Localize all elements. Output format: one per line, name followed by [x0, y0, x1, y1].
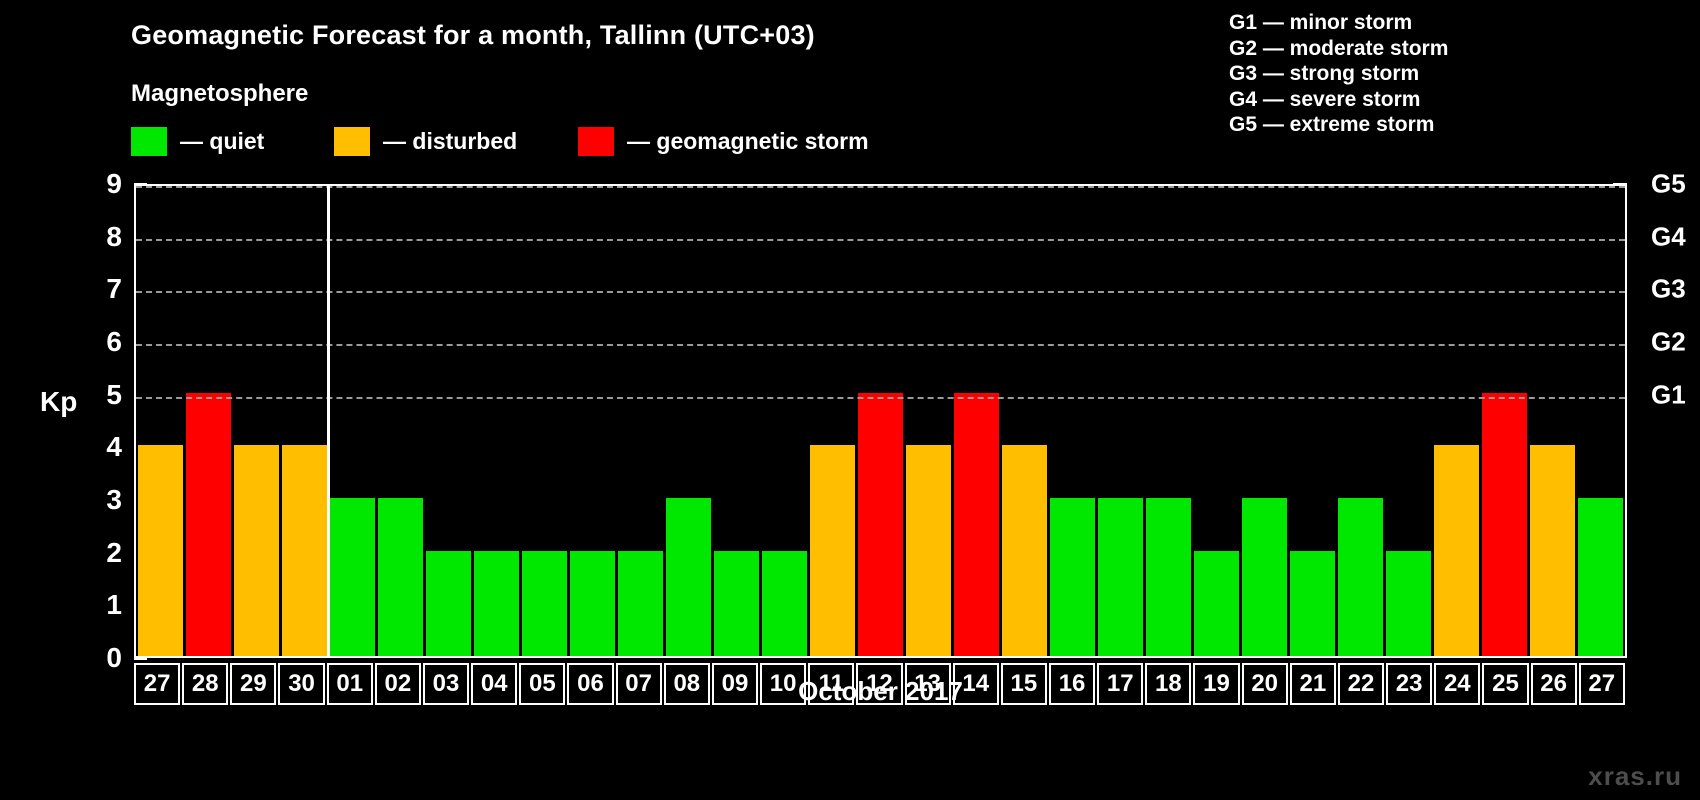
month-divider [327, 186, 330, 656]
bar-13-kp-4 [906, 445, 951, 656]
legend-item-1: — disturbed [334, 126, 517, 156]
bar-04-kp-2 [474, 551, 519, 656]
bar-slot [1481, 186, 1529, 656]
gridline-kp-8 [136, 239, 1625, 241]
bar-slot [136, 186, 184, 656]
legend-label: — disturbed [383, 128, 517, 155]
bar-09-kp-2 [714, 551, 759, 656]
y-axis-title: Kp [40, 386, 77, 418]
bar-slot [856, 186, 904, 656]
bar-01-kp-3 [330, 498, 375, 656]
bar-10-kp-2 [762, 551, 807, 656]
legend-swatch-icon [334, 127, 370, 156]
bar-slot [328, 186, 376, 656]
bar-slot [1145, 186, 1193, 656]
storm-scale-row-2: G2 — moderate storm [1229, 36, 1448, 62]
bar-slot [760, 186, 808, 656]
bar-28-kp-5 [186, 393, 231, 656]
bar-slot [1097, 186, 1145, 656]
plot-area [134, 184, 1627, 658]
geomagnetic-forecast-chart: Geomagnetic Forecast for a month, Tallin… [0, 0, 1700, 800]
bar-slot [616, 186, 664, 656]
bar-05-kp-2 [522, 551, 567, 656]
bar-11-kp-4 [810, 445, 855, 656]
storm-scale-row-1: G1 — minor storm [1229, 10, 1448, 36]
legend-label: — quiet [180, 128, 264, 155]
bar-slot [1529, 186, 1577, 656]
bar-06-kp-2 [570, 551, 615, 656]
legend-swatch-icon [578, 127, 614, 156]
bar-20-kp-3 [1242, 498, 1287, 656]
bar-slot [472, 186, 520, 656]
bar-23-kp-2 [1386, 551, 1431, 656]
storm-scale-row-5: G5 — extreme storm [1229, 112, 1448, 138]
bar-slot [1001, 186, 1049, 656]
bar-slot [280, 186, 328, 656]
bar-slot [1577, 186, 1625, 656]
right-tick-label-G5: G5 [1651, 169, 1686, 200]
gridline-kp-9 [136, 186, 1625, 188]
bar-slot [1193, 186, 1241, 656]
bar-07-kp-2 [618, 551, 663, 656]
right-tick-label-G4: G4 [1651, 221, 1686, 252]
bar-02-kp-3 [378, 498, 423, 656]
y-tick-label-7: 7 [82, 273, 122, 305]
bar-series [136, 186, 1625, 656]
bar-21-kp-2 [1290, 551, 1335, 656]
gridline-kp-7 [136, 291, 1625, 293]
legend-item-0: — quiet [131, 126, 264, 156]
bar-29-kp-4 [234, 445, 279, 656]
storm-scale-legend: G1 — minor stormG2 — moderate stormG3 — … [1229, 10, 1448, 138]
y-tick-label-1: 1 [82, 589, 122, 621]
bar-08-kp-3 [666, 498, 711, 656]
right-tick-label-G3: G3 [1651, 274, 1686, 305]
bar-16-kp-3 [1050, 498, 1095, 656]
bar-slot [568, 186, 616, 656]
y-tick-label-0: 0 [82, 642, 122, 674]
page-title: Geomagnetic Forecast for a month, Tallin… [131, 20, 815, 51]
y-tick-label-4: 4 [82, 431, 122, 463]
y-tick-label-3: 3 [82, 484, 122, 516]
bar-19-kp-2 [1194, 551, 1239, 656]
bar-slot [1433, 186, 1481, 656]
y-tick-label-8: 8 [82, 221, 122, 253]
bar-slot [184, 186, 232, 656]
y-tick-label-5: 5 [82, 379, 122, 411]
bar-14-kp-5 [954, 393, 999, 656]
bar-03-kp-2 [426, 551, 471, 656]
watermark: xras.ru [1588, 761, 1682, 792]
bar-slot [1049, 186, 1097, 656]
bar-slot [664, 186, 712, 656]
right-tick-label-G1: G1 [1651, 379, 1686, 410]
magnetosphere-label: Magnetosphere [131, 80, 308, 108]
bar-15-kp-4 [1002, 445, 1047, 656]
bar-24-kp-4 [1434, 445, 1479, 656]
bar-slot [905, 186, 953, 656]
right-tick-label-G2: G2 [1651, 327, 1686, 358]
bar-slot [232, 186, 280, 656]
bar-22-kp-3 [1338, 498, 1383, 656]
x-axis-title-wrap: October 2017 [134, 676, 1627, 707]
bar-slot [1337, 186, 1385, 656]
bar-25-kp-5 [1482, 393, 1527, 656]
bar-slot [712, 186, 760, 656]
bar-slot [953, 186, 1001, 656]
gridline-kp-5 [136, 397, 1625, 399]
y-tick-label-6: 6 [82, 326, 122, 358]
legend-label: — geomagnetic storm [627, 128, 869, 155]
bar-27-kp-3 [1578, 498, 1623, 656]
x-axis-title: October 2017 [798, 676, 963, 706]
bar-slot [808, 186, 856, 656]
bar-17-kp-3 [1098, 498, 1143, 656]
bar-slot [1241, 186, 1289, 656]
bar-slot [520, 186, 568, 656]
y-tick-label-9: 9 [82, 168, 122, 200]
gridline-kp-6 [136, 344, 1625, 346]
legend-item-2: — geomagnetic storm [578, 126, 869, 156]
storm-scale-row-4: G4 — severe storm [1229, 87, 1448, 113]
y-tick-label-2: 2 [82, 537, 122, 569]
bar-slot [1385, 186, 1433, 656]
storm-scale-row-3: G3 — strong storm [1229, 61, 1448, 87]
bar-18-kp-3 [1146, 498, 1191, 656]
bar-30-kp-4 [282, 445, 327, 656]
bar-27-kp-4 [138, 445, 183, 656]
bar-slot [376, 186, 424, 656]
bar-26-kp-4 [1530, 445, 1575, 656]
bar-slot [424, 186, 472, 656]
bar-slot [1289, 186, 1337, 656]
legend-swatch-icon [131, 127, 167, 156]
bar-12-kp-5 [858, 393, 903, 656]
